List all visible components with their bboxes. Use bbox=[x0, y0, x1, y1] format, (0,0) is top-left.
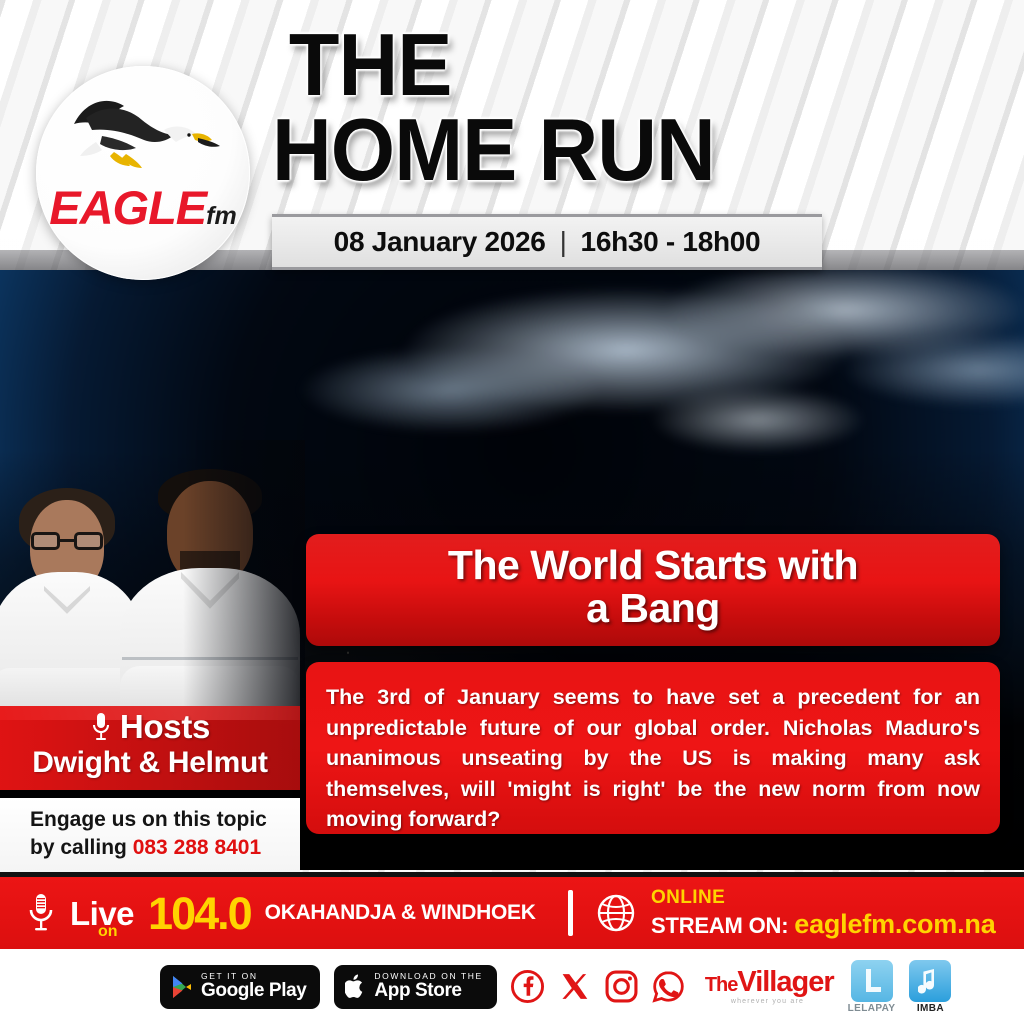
engage-line-1: Engage us on this topic bbox=[30, 806, 300, 834]
lelapay-icon bbox=[851, 960, 893, 1002]
footer-right: ONLINE STREAM ON: eaglefm.com.na bbox=[573, 887, 996, 939]
facebook-icon[interactable] bbox=[511, 970, 544, 1003]
hosts-label: Hosts bbox=[120, 708, 210, 746]
schedule-bar: 08 January 2026 | 16h30 - 18h00 bbox=[272, 214, 822, 270]
google-play-bottom-text: Google Play bbox=[201, 981, 306, 1001]
eagle-fm-logo: EAGLEfm bbox=[36, 66, 250, 280]
live-label-group: Live on bbox=[70, 897, 134, 930]
google-play-badge[interactable]: GET IT ON Google Play bbox=[160, 965, 320, 1009]
logo-wordmark-fm: fm bbox=[206, 202, 237, 230]
topic-title-card: The World Starts with a Bang bbox=[306, 534, 1000, 646]
globe-icon bbox=[595, 892, 637, 934]
broadcast-footer: Live on 104.0 OKAHANDJA & WINDHOEK ONLIN… bbox=[0, 877, 1024, 949]
topic-description-card: The 3rd of January seems to have set a p… bbox=[306, 662, 1000, 834]
villager-main: Villager bbox=[737, 966, 833, 998]
photo-edge-blend bbox=[0, 440, 305, 720]
whatsapp-icon[interactable] bbox=[652, 970, 685, 1003]
coverage-cities: OKAHANDJA & WINDHOEK bbox=[265, 901, 536, 925]
villager-the: The bbox=[705, 974, 738, 996]
broadcast-date: 08 January 2026 bbox=[334, 226, 546, 258]
broadcast-time: 16h30 - 18h00 bbox=[581, 226, 761, 258]
music-note-icon bbox=[909, 960, 951, 1002]
online-stream-info: ONLINE STREAM ON: eaglefm.com.na bbox=[651, 887, 996, 939]
page-title-line-1: THE bbox=[272, 22, 949, 107]
schedule-separator: | bbox=[560, 226, 567, 258]
stream-line: STREAM ON: eaglefm.com.na bbox=[651, 909, 996, 939]
app-store-bottom-text: App Store bbox=[374, 981, 482, 1001]
topic-title-line-2: a Bang bbox=[586, 585, 720, 631]
frequency-value: 104.0 bbox=[148, 891, 251, 936]
engage-block: Engage us on this topic by calling 083 2… bbox=[0, 798, 300, 874]
engage-line-2: by calling 083 288 8401 bbox=[30, 834, 300, 862]
online-label: ONLINE bbox=[651, 887, 996, 908]
villager-logo[interactable]: TheVillager wherever you are bbox=[705, 968, 834, 1005]
stream-url[interactable]: eaglefm.com.na bbox=[794, 909, 995, 939]
imba-logo[interactable]: IMBA bbox=[909, 960, 951, 1014]
logo-wordmark: EAGLEfm bbox=[36, 184, 250, 231]
topic-title-line-1: The World Starts with bbox=[448, 542, 858, 588]
apple-icon bbox=[345, 974, 366, 999]
microphone-icon bbox=[90, 711, 112, 743]
stream-label: STREAM ON: bbox=[651, 913, 788, 938]
villager-tagline: wherever you are bbox=[705, 998, 834, 1005]
lelapay-logo[interactable]: LELAPAY bbox=[848, 960, 896, 1014]
villager-wordmark: TheVillager bbox=[705, 968, 834, 997]
eagle-icon bbox=[56, 90, 228, 186]
engage-phone-number[interactable]: 083 288 8401 bbox=[133, 836, 261, 859]
app-and-partner-strip: GET IT ON Google Play Download on the Ap… bbox=[0, 949, 1024, 1024]
lelapay-label: LELAPAY bbox=[848, 1003, 896, 1014]
topic-description: The 3rd of January seems to have set a p… bbox=[326, 682, 980, 835]
logo-wordmark-main: EAGLE bbox=[49, 181, 206, 234]
imba-label: IMBA bbox=[917, 1003, 944, 1014]
google-play-icon bbox=[171, 975, 193, 999]
engage-prefix: by calling bbox=[30, 836, 133, 859]
live-on-label: on bbox=[98, 923, 118, 941]
hosts-photo bbox=[0, 440, 305, 720]
promo-poster: EAGLEfm THE HOME RUN 08 January 2026 | 1… bbox=[0, 0, 1024, 1024]
hosts-banner: Hosts Dwight & Helmut bbox=[0, 706, 300, 790]
hosts-label-row: Hosts bbox=[0, 706, 300, 748]
hosts-names: Dwight & Helmut bbox=[0, 746, 300, 780]
topic-title: The World Starts with a Bang bbox=[448, 544, 858, 631]
page-title-line-2: HOME RUN bbox=[272, 107, 949, 192]
app-store-badge[interactable]: Download on the App Store bbox=[334, 965, 496, 1009]
x-icon[interactable] bbox=[558, 970, 591, 1003]
microphone-icon bbox=[26, 891, 56, 935]
page-title: THE HOME RUN bbox=[272, 22, 949, 193]
footer-left: Live on 104.0 OKAHANDJA & WINDHOEK bbox=[0, 891, 568, 936]
instagram-icon[interactable] bbox=[605, 970, 638, 1003]
